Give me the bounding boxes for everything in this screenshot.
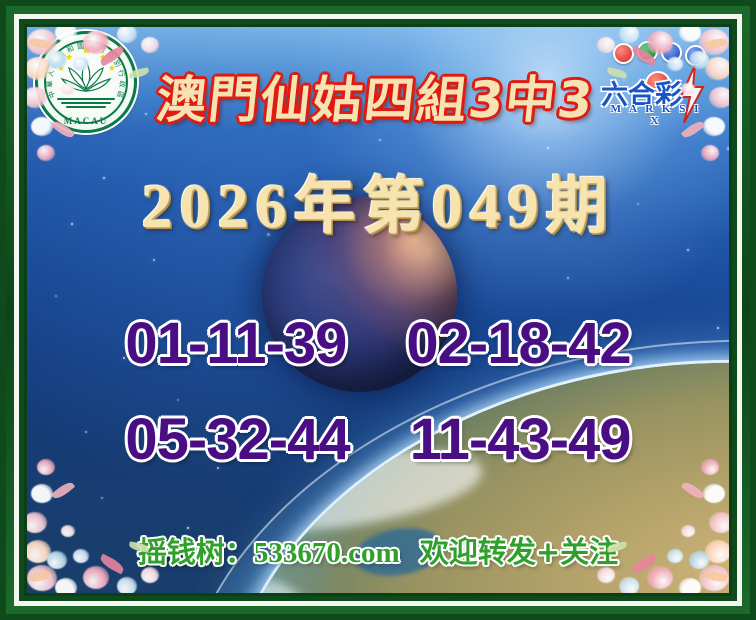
number-group: 11-43-49 [410, 406, 631, 473]
number-row: 01-11-39 02-18-42 [67, 295, 689, 391]
number-group: 02-18-42 [406, 310, 630, 377]
poster-content: ★ ★ ★ ★ ★ MACAU 中華人民共和國澳門特別行政區 澳門仙姑四組3中3 [24, 24, 732, 596]
footer-site-label: 摇钱树 [138, 535, 225, 569]
footer-text: 摇钱树：533670.com 欢迎转发+关注 [27, 529, 729, 571]
number-group: 05-32-44 [125, 406, 349, 473]
number-row: 05-32-44 11-43-49 [67, 391, 689, 487]
footer-promo: 欢迎转发+关注 [420, 535, 618, 569]
lottery-poster: ★ ★ ★ ★ ★ MACAU 中華人民共和國澳門特別行政區 澳門仙姑四組3中3 [0, 0, 756, 620]
number-grid: 01-11-39 02-18-42 05-32-44 11-43-49 [67, 295, 689, 487]
footer-domain-main: 533670. [254, 537, 348, 569]
macau-emblem-icon: ★ ★ ★ ★ ★ MACAU 中華人民共和國澳門特別行政區 [35, 31, 137, 133]
footer-separator: ： [225, 535, 254, 569]
mark-six-logo: 六合彩 M A R K S I X [601, 35, 721, 127]
lottery-balls [607, 41, 715, 67]
header-band: ★ ★ ★ ★ ★ MACAU 中華人民共和國澳門特別行政區 澳門仙姑四組3中3 [27, 27, 729, 131]
mark-six-en-label: M A R K S I X [603, 103, 709, 127]
footer-domain-tld: com [348, 537, 400, 569]
issue-line: 2026年第049期 [27, 155, 729, 245]
page-title: 澳門仙姑四組3中3 [154, 65, 661, 127]
number-group: 01-11-39 [125, 310, 346, 377]
emblem-ring-text: 中華人民共和國澳門特別行政區 [38, 34, 134, 130]
